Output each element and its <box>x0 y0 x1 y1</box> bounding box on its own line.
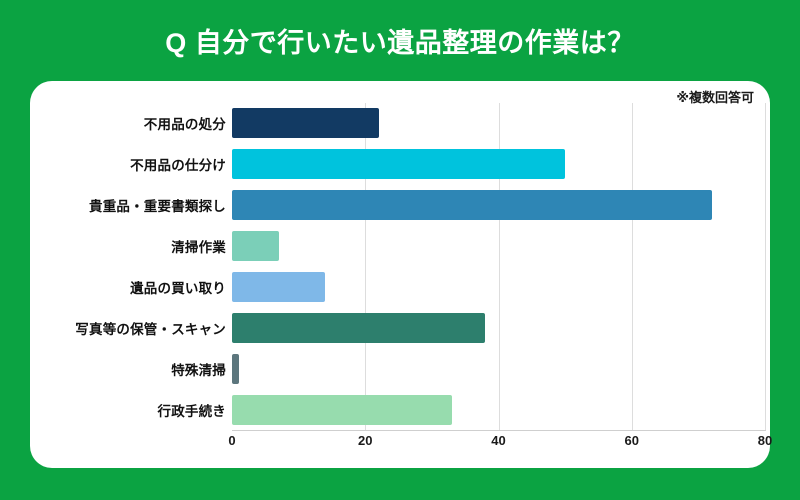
bar-track <box>232 389 765 430</box>
bar-label: 貴重品・重要書類探し <box>30 195 226 215</box>
bar-row[interactable]: 遺品の買い取り <box>30 267 770 308</box>
x-axis-baseline <box>232 430 766 431</box>
x-axis-ticks: 020406080 <box>232 433 765 463</box>
bar[interactable] <box>232 231 279 261</box>
bar[interactable] <box>232 272 325 302</box>
bar[interactable] <box>232 395 452 425</box>
x-tick-label: 80 <box>758 433 772 448</box>
bar-row[interactable]: 特殊清掃 <box>30 348 770 389</box>
page-title: Q 自分で行いたい遺品整理の作業は？ <box>165 21 635 60</box>
bar[interactable] <box>232 108 379 138</box>
bar-label: 行政手続き <box>30 400 226 420</box>
x-tick-label: 20 <box>358 433 372 448</box>
bar-track <box>232 185 765 226</box>
bar-track <box>232 226 765 267</box>
bar[interactable] <box>232 313 485 343</box>
bar-label: 清掃作業 <box>30 236 226 256</box>
bar-row[interactable]: 清掃作業 <box>30 226 770 267</box>
bar[interactable] <box>232 354 239 384</box>
bar[interactable] <box>232 190 712 220</box>
bar-track <box>232 267 765 308</box>
bar-chart: 不用品の処分不用品の仕分け貴重品・重要書類探し清掃作業遺品の買い取り写真等の保管… <box>30 81 770 468</box>
bar-row[interactable]: 貴重品・重要書類探し <box>30 185 770 226</box>
bar-row[interactable]: 不用品の仕分け <box>30 144 770 185</box>
x-tick-label: 60 <box>625 433 639 448</box>
bar[interactable] <box>232 149 565 179</box>
bar-label: 遺品の買い取り <box>30 277 226 297</box>
bar-label: 不用品の処分 <box>30 113 226 133</box>
chart-card: ※複数回答可 不用品の処分不用品の仕分け貴重品・重要書類探し清掃作業遺品の買い取… <box>30 81 770 468</box>
bar-row[interactable]: 不用品の処分 <box>30 103 770 144</box>
chart-page: Q 自分で行いたい遺品整理の作業は？ ※複数回答可 不用品の処分不用品の仕分け貴… <box>0 0 800 500</box>
title-bar: Q 自分で行いたい遺品整理の作業は？ <box>0 0 800 81</box>
bar-label: 写真等の保管・スキャン <box>30 318 226 338</box>
bar-rows: 不用品の処分不用品の仕分け貴重品・重要書類探し清掃作業遺品の買い取り写真等の保管… <box>30 103 770 430</box>
bar-track <box>232 348 765 389</box>
bar-label: 不用品の仕分け <box>30 154 226 174</box>
bar-track <box>232 307 765 348</box>
x-tick-label: 0 <box>228 433 235 448</box>
bar-track <box>232 144 765 185</box>
bar-row[interactable]: 写真等の保管・スキャン <box>30 307 770 348</box>
x-tick-label: 40 <box>491 433 505 448</box>
bar-row[interactable]: 行政手続き <box>30 389 770 430</box>
bar-track <box>232 103 765 144</box>
bar-label: 特殊清掃 <box>30 359 226 379</box>
